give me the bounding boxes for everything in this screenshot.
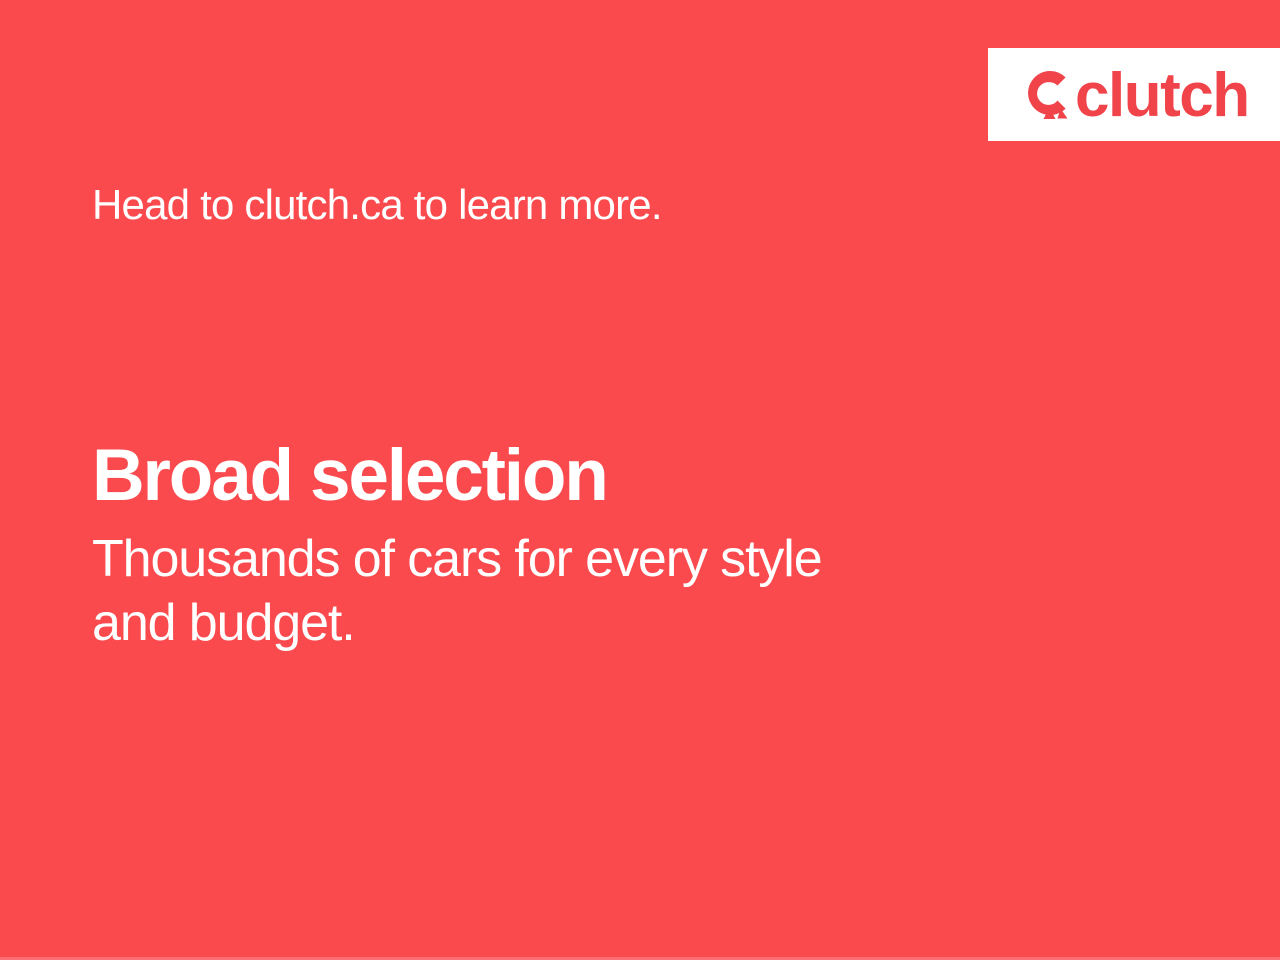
clutch-logo-plate[interactable]: clutch <box>988 48 1280 141</box>
page-title: Broad selection <box>92 437 1092 514</box>
subheadline: Thousands of cars for every style and bu… <box>92 528 1042 655</box>
copy-block: Broad selection Thousands of cars for ev… <box>92 437 1092 655</box>
subheadline-line-1: Thousands of cars for every style <box>92 528 1042 591</box>
clutch-wordmark: clutch <box>1075 65 1249 127</box>
clutch-logo-lockup: clutch <box>1024 48 1249 141</box>
tagline: Head to clutch.ca to learn more. <box>92 181 662 228</box>
subheadline-line-2: and budget. <box>92 592 1042 655</box>
clutch-c-mark-icon <box>1024 67 1076 123</box>
promo-slide: clutch Head to clutch.ca to learn more. … <box>0 0 1280 960</box>
